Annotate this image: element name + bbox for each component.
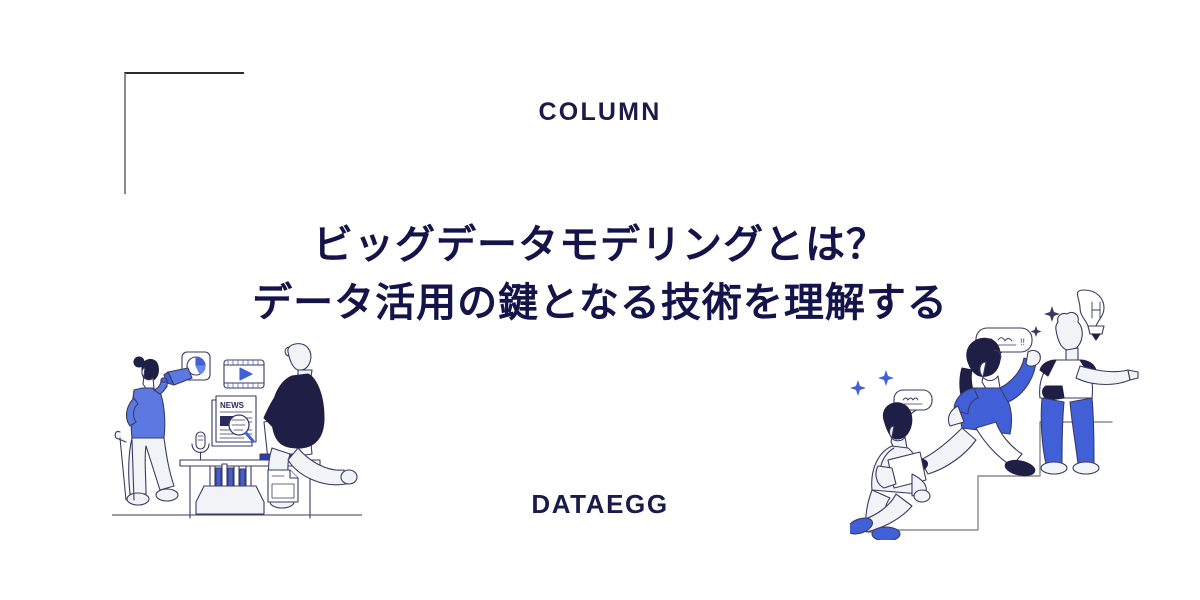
svg-text:NEWS: NEWS bbox=[220, 401, 245, 410]
document-icon bbox=[268, 470, 298, 502]
eyebrow-label: COLUMN bbox=[0, 99, 1200, 127]
pointing-person bbox=[1040, 312, 1138, 474]
microphone bbox=[192, 432, 209, 460]
team-media-desk-illustration: NEWS bbox=[112, 342, 362, 538]
svg-text:!!: !! bbox=[1020, 337, 1025, 347]
column-banner: COLUMN ビッグデータモデリングとは？ データ活用の鍵となる技術を理解する … bbox=[0, 0, 1200, 600]
corner-bracket bbox=[124, 72, 244, 194]
walking-person-with-document bbox=[850, 403, 930, 540]
page-title-line-1: ビッグデータモデリングとは？ bbox=[0, 216, 1200, 274]
people-climbing-stairs-illustration: !! bbox=[850, 278, 1140, 540]
news-paper: NEWS bbox=[212, 396, 256, 446]
woman-with-megaphone bbox=[115, 357, 192, 505]
video-play-icon bbox=[224, 360, 264, 388]
books-box bbox=[196, 464, 264, 514]
